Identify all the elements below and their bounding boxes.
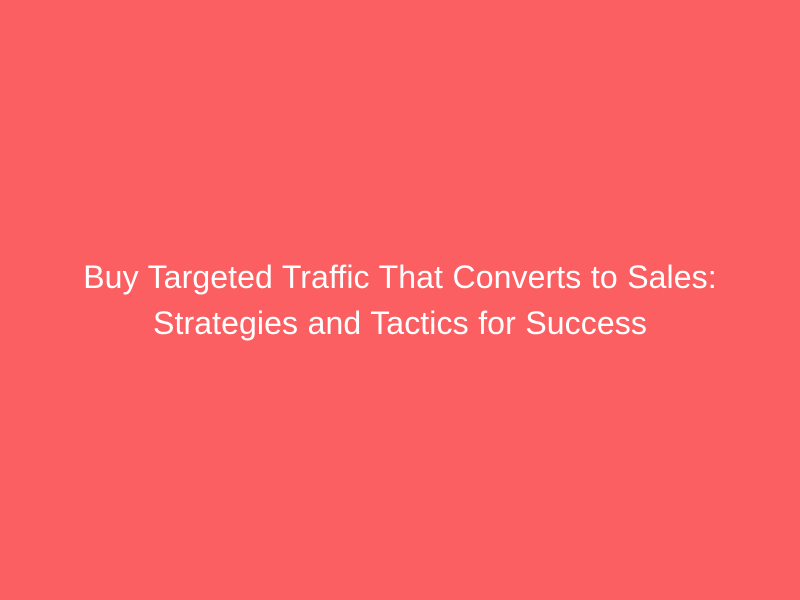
page-title: Buy Targeted Traffic That Converts to Sa… [40, 254, 760, 346]
page-title-line-2: Strategies and Tactics for Success [40, 300, 760, 346]
banner-content: Buy Targeted Traffic That Converts to Sa… [0, 254, 800, 346]
page-title-line-1: Buy Targeted Traffic That Converts to Sa… [40, 254, 760, 300]
title-banner: Buy Targeted Traffic That Converts to Sa… [0, 0, 800, 600]
